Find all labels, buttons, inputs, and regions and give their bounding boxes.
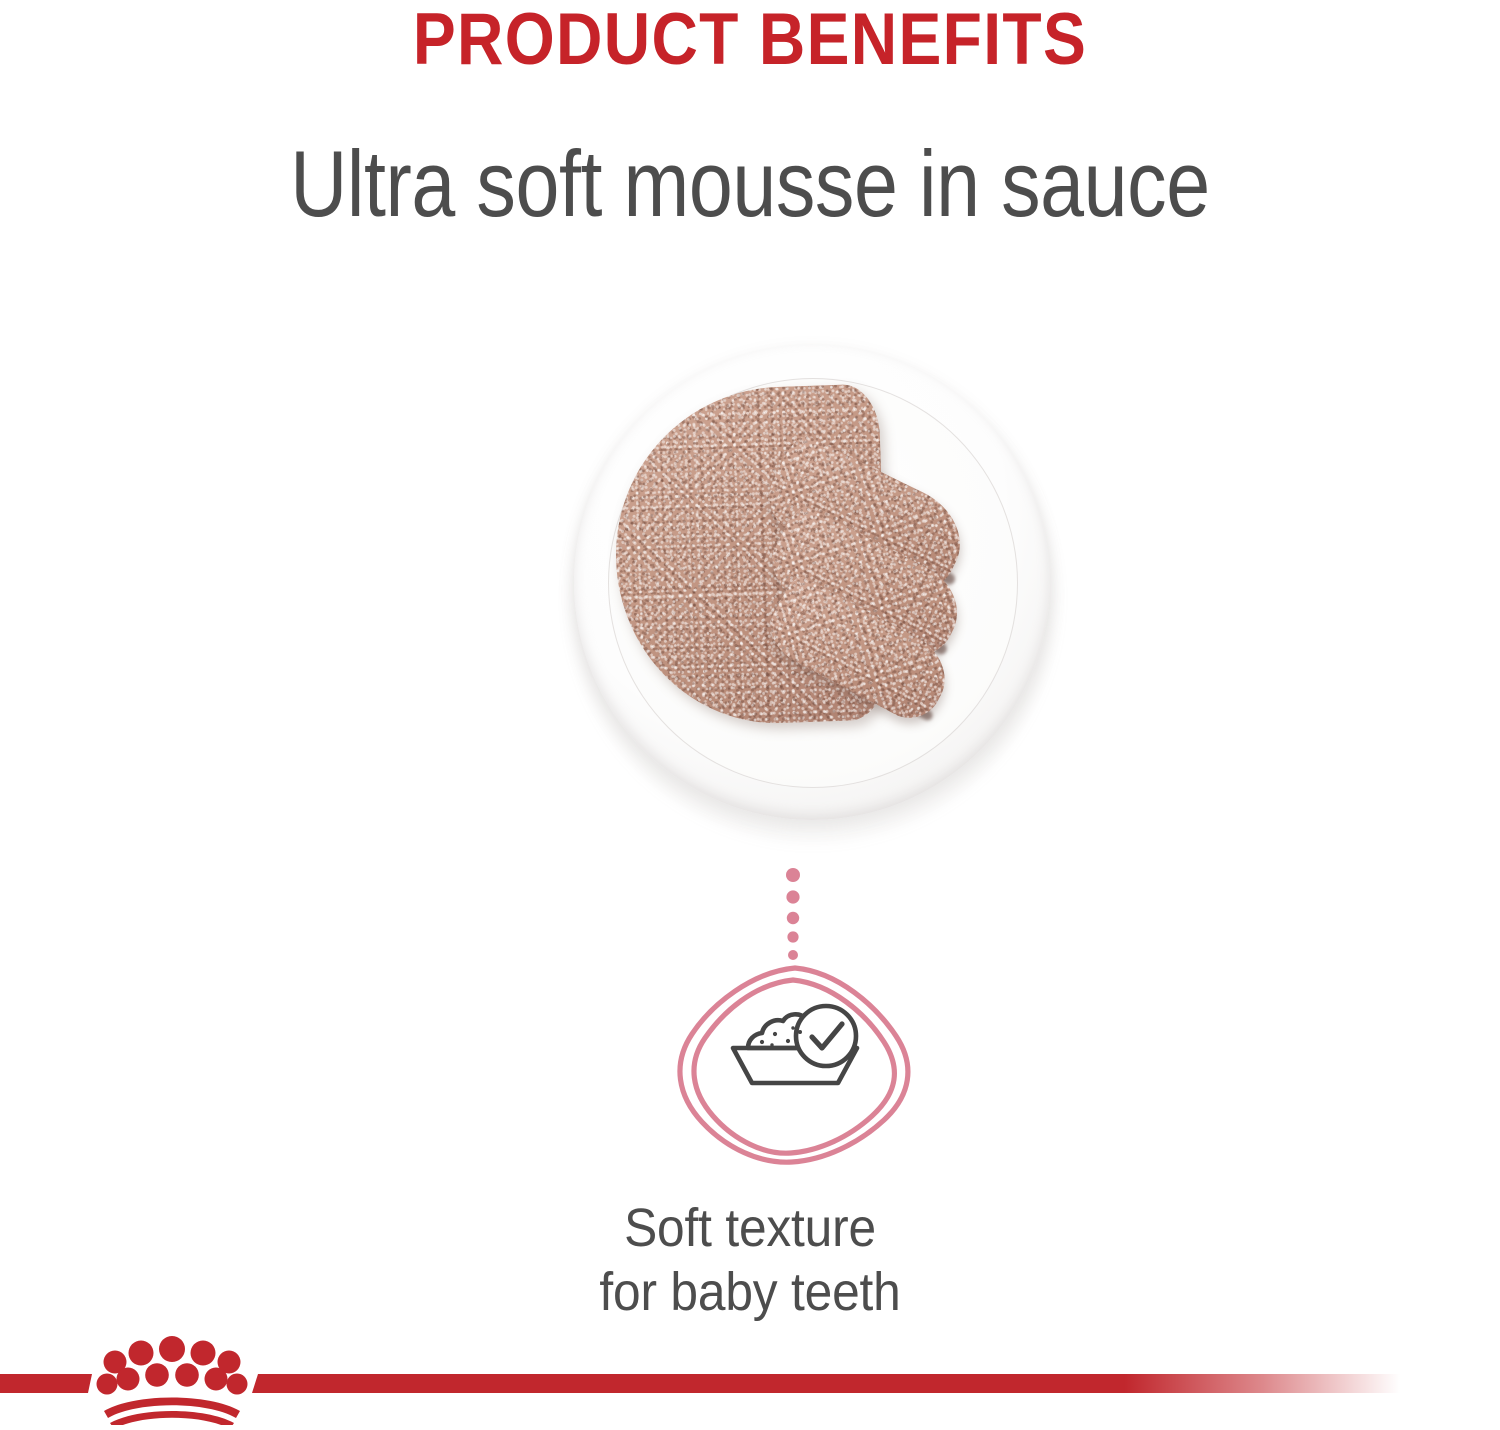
check-circle-icon	[796, 1006, 856, 1066]
badge-outline-icon	[680, 968, 908, 1162]
royal-canin-crown-logo	[97, 1336, 248, 1425]
brand-footer	[0, 1335, 1500, 1425]
food-bowl-check-icon	[0, 962, 1500, 1174]
footer-bar-right	[252, 1374, 1400, 1393]
page-title: PRODUCT BENEFITS	[90, 2, 1410, 78]
dotted-connector-icon	[0, 866, 1500, 962]
page-subtitle: Ultra soft mousse in sauce	[120, 130, 1380, 238]
benefit-caption-line-2: for baby teeth	[60, 1260, 1440, 1324]
connector-dots	[0, 866, 1500, 962]
footer-bar-left	[0, 1374, 92, 1393]
benefit-badge	[0, 962, 1500, 1174]
benefit-caption: Soft texture for baby teeth	[60, 1196, 1440, 1324]
mousse-group	[552, 330, 1072, 850]
product-image	[552, 330, 1072, 850]
benefit-caption-line-1: Soft texture	[60, 1196, 1440, 1260]
royal-canin-footer-bar	[0, 1335, 1500, 1425]
